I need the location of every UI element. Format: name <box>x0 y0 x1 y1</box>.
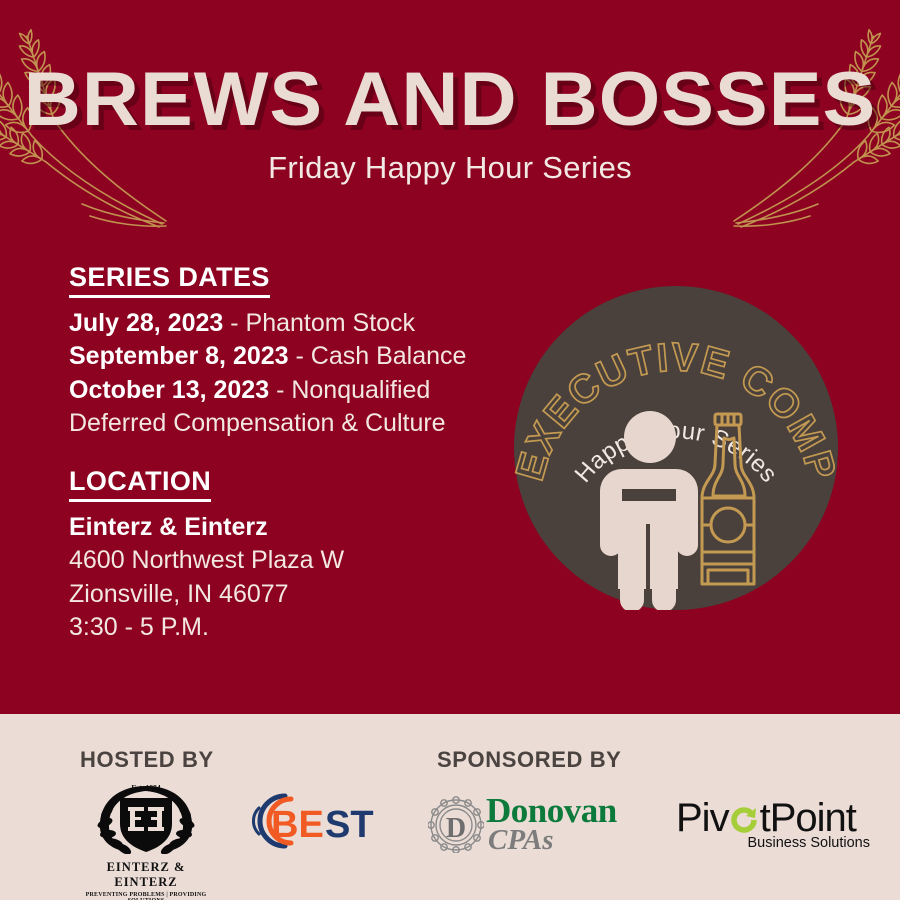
page-subtitle: Friday Happy Hour Series <box>0 136 900 186</box>
series-dates-section: SERIES DATES July 28, 2023 - Phantom Sto… <box>69 262 499 440</box>
series-date-row: October 13, 2023 - Nonqualified Deferred… <box>69 374 499 441</box>
poster-canvas: BREWS AND BOSSES Friday Happy Hour Serie… <box>0 0 900 900</box>
series-date-topic: Cash Balance <box>311 342 467 370</box>
series-date-value: September 8, 2023 <box>69 342 289 370</box>
page-title: BREWS AND BOSSES <box>0 0 900 136</box>
series-date-row: September 8, 2023 - Cash Balance <box>69 340 499 373</box>
series-date-separator: - <box>289 342 311 370</box>
executive-comp-badge: EXECUTIVE COMP Happy Hour Series <box>514 286 838 610</box>
location-section: LOCATION Einterz & Einterz 4600 Northwes… <box>69 466 499 644</box>
series-date-separator: - <box>223 309 245 337</box>
series-date-topic: Phantom Stock <box>246 309 416 337</box>
hosted-by-label: HOSTED BY <box>80 747 214 773</box>
beer-bottle-icon <box>514 286 838 610</box>
donovan-seal-icon: D <box>428 793 484 853</box>
series-dates-heading: SERIES DATES <box>69 262 270 298</box>
einterz-name-text: EINTERZ & EINTERZ <box>76 860 216 890</box>
location-venue-text: Einterz & Einterz <box>69 513 268 541</box>
best-text-be: BE <box>271 804 324 846</box>
location-heading: LOCATION <box>69 466 211 502</box>
series-date-value: October 13, 2023 <box>69 376 269 404</box>
einterz-logo: Est. 1994 EINTERZ & EINTERZ PREVENTING P… <box>76 778 216 900</box>
einterz-tagline-text: PREVENTING PROBLEMS | PROVIDING SOLUTION… <box>76 892 216 900</box>
series-date-value: July 28, 2023 <box>69 309 223 337</box>
donovan-seal-letter: D <box>446 813 466 844</box>
location-time: 3:30 - 5 P.M. <box>69 611 499 644</box>
pivotpoint-logo: PivtPoint Business Solutions <box>676 800 872 856</box>
location-city-state-zip: Zionsville, IN 46077 <box>69 578 499 611</box>
pivotpoint-circular-arrow-icon <box>730 805 759 834</box>
poster-header: BREWS AND BOSSES Friday Happy Hour Serie… <box>0 0 900 186</box>
donovan-cpas-logo: D Donovan CPAs <box>428 793 658 855</box>
series-date-separator: - <box>269 376 291 404</box>
best-text-st: ST <box>325 804 374 846</box>
section-spacer <box>69 440 499 466</box>
pivotpoint-name-post: tPoint <box>760 796 856 840</box>
einterz-est-text: Est. 1994 <box>131 783 160 792</box>
sponsored-by-label: SPONSORED BY <box>437 747 621 773</box>
pivotpoint-sub-text: Business Solutions <box>747 835 870 851</box>
einterz-crest-icon: Est. 1994 <box>76 778 216 854</box>
pivotpoint-name-pre: Piv <box>676 796 729 840</box>
series-date-row: July 28, 2023 - Phantom Stock <box>69 307 499 340</box>
best-swoosh-icon: BE ST <box>243 792 387 850</box>
location-street: 4600 Northwest Plaza W <box>69 544 499 577</box>
event-details: SERIES DATES July 28, 2023 - Phantom Sto… <box>69 262 499 644</box>
donovan-cpas-text: CPAs <box>488 824 554 857</box>
location-venue: Einterz & Einterz <box>69 511 499 544</box>
best-logo: BE ST <box>243 792 387 850</box>
